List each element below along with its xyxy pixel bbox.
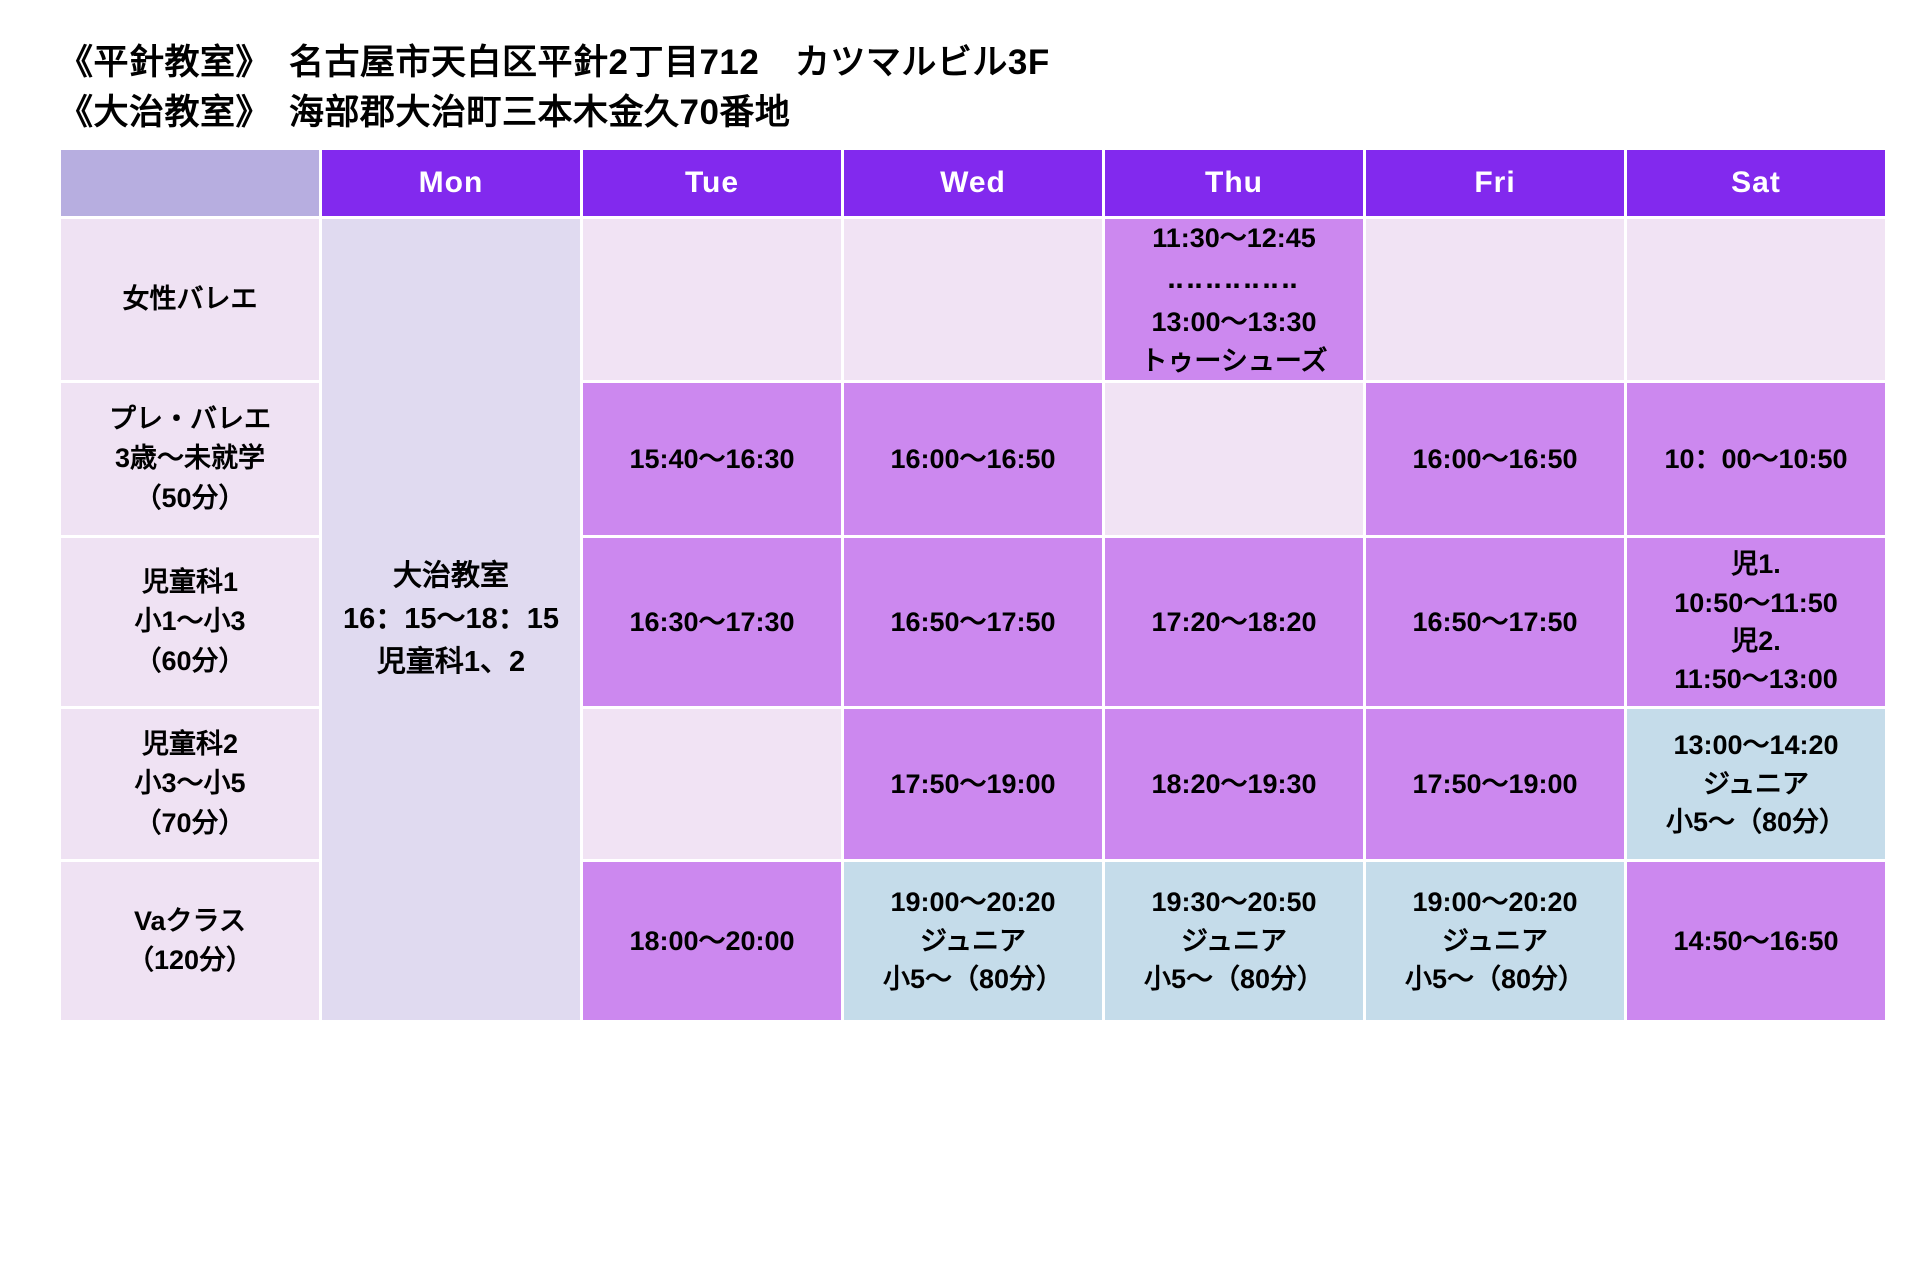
time-slot-line: 16:00〜16:50 [1366,440,1624,478]
time-slot-line: 10：00〜10:50 [1627,440,1885,478]
row-label-jidouka-1: 児童科1 小1〜小3 （60分） [61,538,319,706]
class-group-label: 児1. [1627,545,1885,583]
time-slot-line: 17:50〜19:00 [1366,765,1624,803]
cell-thu-jidouka-2: 18:20〜19:30 [1105,709,1363,859]
class-note-toe-shoes: トゥーシューズ [1105,342,1363,380]
cell-wed-pre-ballet: 16:00〜16:50 [844,383,1102,535]
cell-fri-jidouka-2: 17:50〜19:00 [1366,709,1624,859]
table-row: 女性バレエ 大治教室 16：15〜18：15 児童科1、2 11:30〜12:4… [61,219,1885,380]
cell-tue-pre-ballet: 15:40〜16:30 [583,383,841,535]
address-header: 《平針教室》 名古屋市天白区平針2丁目712 カツマルビル3F 《大治教室》 海… [58,38,1922,137]
class-name-junior: ジュニア [1105,922,1363,960]
cell-wed-women-ballet [844,219,1102,380]
cell-mon-merged-oharu: 大治教室 16：15〜18：15 児童科1、2 [322,219,580,1020]
day-header-wed: Wed [844,150,1102,216]
class-name-junior: ジュニア [1366,922,1624,960]
row-label-line: （60分） [61,642,319,681]
cell-thu-va-class: 19:30〜20:50 ジュニア 小5〜（80分） [1105,862,1363,1020]
cell-sat-women-ballet [1627,219,1885,380]
cell-fri-women-ballet [1366,219,1624,380]
row-label-line: 小3〜小5 [61,764,319,803]
row-label-women-ballet: 女性バレエ [61,219,319,380]
time-slot-line: 16:50〜17:50 [1366,603,1624,641]
cell-thu-women-ballet: 11:30〜12:45 ‥‥‥‥‥‥‥ 13:00〜13:30 トゥーシューズ [1105,219,1363,380]
class-schedule-table: Mon Tue Wed Thu Fri Sat 女性バレエ 大治教室 16：15… [58,147,1888,1023]
time-slot-line: 15:40〜16:30 [583,440,841,478]
schedule-page: 《平針教室》 名古屋市天白区平針2丁目712 カツマルビル3F 《大治教室》 海… [0,0,1922,1286]
time-slot-line: 19:00〜20:20 [844,883,1102,921]
time-slot-line: 18:20〜19:30 [1105,765,1363,803]
header-corner-cell [61,150,319,216]
time-slot-line: 19:00〜20:20 [1366,883,1624,921]
cell-sat-pre-ballet: 10：00〜10:50 [1627,383,1885,535]
time-slot-line: 18:00〜20:00 [583,922,841,960]
cell-thu-pre-ballet [1105,383,1363,535]
time-slot-line: 13:00〜14:20 [1627,726,1885,764]
time-slot-line: 10:50〜11:50 [1627,584,1885,622]
address-line-hirabari: 《平針教室》 名古屋市天白区平針2丁目712 カツマルビル3F [58,38,1922,88]
class-detail: 小5〜（80分） [1627,803,1885,841]
row-label-line: 児童科1 [61,563,319,602]
row-label-line: 3歳〜未就学 [61,439,319,478]
class-detail: 小5〜（80分） [1105,960,1363,998]
address-line-oharu: 《大治教室》 海部郡大治町三本木金久70番地 [58,88,1922,138]
cell-thu-jidouka-1: 17:20〜18:20 [1105,538,1363,706]
oharu-classroom-name: 大治教室 [322,555,580,598]
cell-tue-jidouka-2 [583,709,841,859]
cell-wed-jidouka-1: 16:50〜17:50 [844,538,1102,706]
cell-tue-va-class: 18:00〜20:00 [583,862,841,1020]
table-header-row: Mon Tue Wed Thu Fri Sat [61,150,1885,216]
row-label-line: （50分） [61,479,319,518]
oharu-time: 16：15〜18：15 [322,598,580,641]
row-label-line: 小1〜小3 [61,602,319,641]
time-slot-line: 17:20〜18:20 [1105,603,1363,641]
row-label-line: 女性バレエ [61,280,319,319]
cell-wed-jidouka-2: 17:50〜19:00 [844,709,1102,859]
day-header-mon: Mon [322,150,580,216]
cell-sat-jidouka-2: 13:00〜14:20 ジュニア 小5〜（80分） [1627,709,1885,859]
cell-wed-va-class: 19:00〜20:20 ジュニア 小5〜（80分） [844,862,1102,1020]
cell-fri-pre-ballet: 16:00〜16:50 [1366,383,1624,535]
row-label-line: （120分） [61,941,319,980]
class-group-label: 児2. [1627,622,1885,660]
class-name-junior: ジュニア [844,922,1102,960]
class-detail: 小5〜（80分） [1366,960,1624,998]
row-label-line: Vaクラス [61,902,319,941]
class-detail: 小5〜（80分） [844,960,1102,998]
separator-dots: ‥‥‥‥‥‥‥ [1105,258,1363,304]
cell-fri-jidouka-1: 16:50〜17:50 [1366,538,1624,706]
cell-sat-va-class: 14:50〜16:50 [1627,862,1885,1020]
cell-tue-jidouka-1: 16:30〜17:30 [583,538,841,706]
time-slot-line: 16:50〜17:50 [844,603,1102,641]
cell-fri-va-class: 19:00〜20:20 ジュニア 小5〜（80分） [1366,862,1624,1020]
class-name-junior: ジュニア [1627,765,1885,803]
row-label-va-class: Vaクラス （120分） [61,862,319,1020]
row-label-pre-ballet: プレ・バレエ 3歳〜未就学 （50分） [61,383,319,535]
cell-sat-jidouka-1: 児1. 10:50〜11:50 児2. 11:50〜13:00 [1627,538,1885,706]
time-slot-line: 16:00〜16:50 [844,440,1102,478]
row-label-line: 児童科2 [61,725,319,764]
day-header-thu: Thu [1105,150,1363,216]
oharu-classes: 児童科1、2 [322,641,580,684]
time-slot-line: 14:50〜16:50 [1627,922,1885,960]
cell-tue-women-ballet [583,219,841,380]
time-slot-line: 17:50〜19:00 [844,765,1102,803]
time-slot-line: 11:50〜13:00 [1627,660,1885,698]
table-body: 女性バレエ 大治教室 16：15〜18：15 児童科1、2 11:30〜12:4… [61,219,1885,1020]
time-slot-line: 19:30〜20:50 [1105,883,1363,921]
day-header-tue: Tue [583,150,841,216]
time-slot-line: 11:30〜12:45 [1105,219,1363,257]
time-slot-line: 13:00〜13:30 [1105,303,1363,341]
time-slot-line: 16:30〜17:30 [583,603,841,641]
day-header-sat: Sat [1627,150,1885,216]
row-label-line: （70分） [61,804,319,843]
day-header-fri: Fri [1366,150,1624,216]
row-label-jidouka-2: 児童科2 小3〜小5 （70分） [61,709,319,859]
row-label-line: プレ・バレエ [61,400,319,439]
